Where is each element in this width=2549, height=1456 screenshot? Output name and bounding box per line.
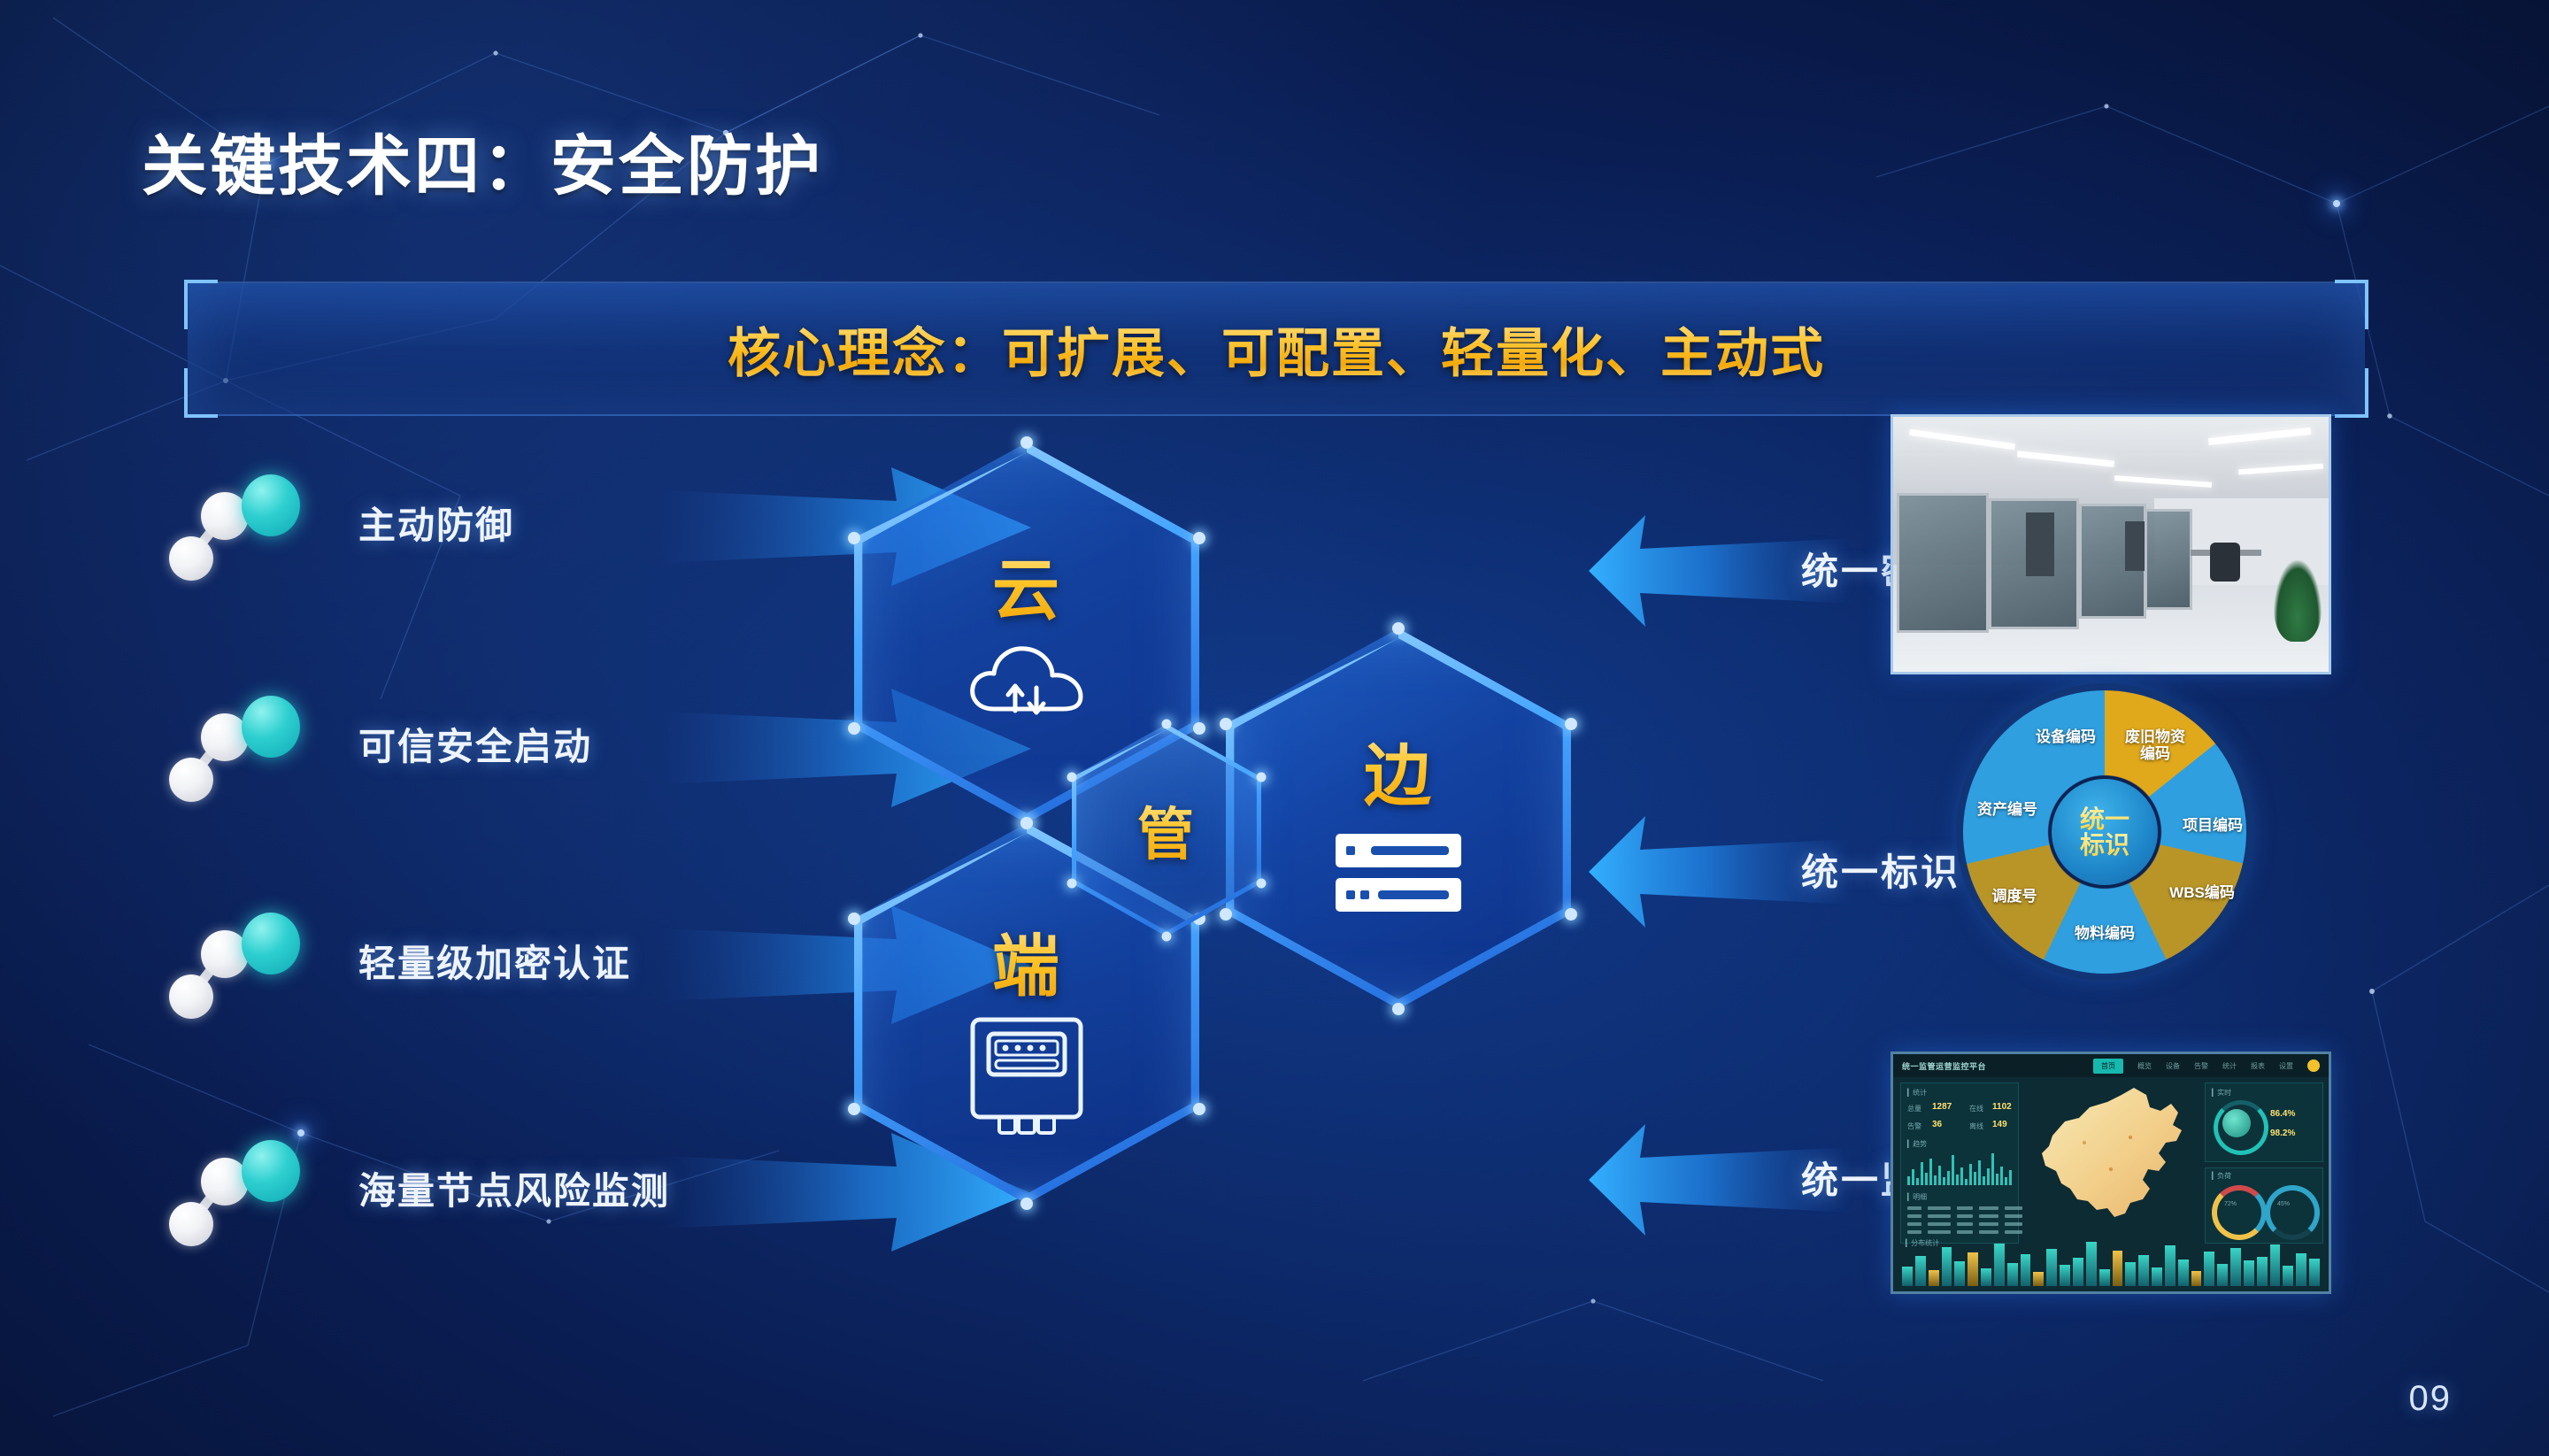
molecule-icon <box>164 467 305 582</box>
segment-label: WBS编码 <box>2165 885 2239 902</box>
bracket-bottom-left-icon <box>184 368 218 418</box>
hexagon-label: 边 <box>1226 721 1571 819</box>
segment-label: 废旧物资编码 <box>2118 729 2192 762</box>
feature-row-node-risk-monitor: 海量节点风险监测 <box>164 1126 854 1259</box>
hexagon-cluster: 云 管 <box>845 443 1589 1195</box>
bracket-top-right-icon <box>2335 280 2368 329</box>
panel-caption: ▎统计 <box>1907 1088 1927 1098</box>
feature-label: 主动防御 <box>358 496 514 550</box>
core-concept-banner: 核心理念：可扩展、可配置、轻量化、主动式 <box>188 281 2365 416</box>
donut-center-line2: 标识 <box>2080 832 2129 858</box>
star-node <box>2333 200 2340 207</box>
dashboard-navbar: 统一监管运营监控平台 首页 概览 设备 告警 统计 报表 设置 <box>1893 1054 2329 1077</box>
monitor-dashboard-screenshot: 统一监管运营监控平台 首页 概览 设备 告警 统计 报表 设置 ▎统计 总量12… <box>1891 1052 2331 1294</box>
dashboard-tab[interactable]: 首页 <box>2093 1059 2123 1074</box>
donut-center: 统一 标识 <box>2052 779 2158 885</box>
dashboard-tab[interactable]: 概览 <box>2137 1061 2152 1071</box>
segment-label: 资产编号 <box>1970 802 2045 819</box>
server-room-photo <box>1891 414 2331 674</box>
segment-label: 设备编码 <box>2029 729 2103 746</box>
molecule-icon <box>164 1133 305 1248</box>
feature-label: 可信安全启动 <box>358 717 592 771</box>
segment-label: 物料编码 <box>2068 926 2142 943</box>
user-avatar[interactable] <box>2307 1059 2320 1072</box>
molecule-icon <box>164 689 305 804</box>
page-title: 关键技术四：安全防护 <box>142 113 823 208</box>
dashboard-tab[interactable]: 报表 <box>2251 1061 2265 1071</box>
identity-wheel-chart: 统一 标识 废旧物资编码 项目编码 WBS编码 物料编码 调度号 资产编号 设备… <box>1929 689 2280 1005</box>
server-icon <box>1226 830 1571 919</box>
page-number: 09 <box>2409 1379 2453 1419</box>
bracket-bottom-right-icon <box>2335 368 2368 418</box>
feature-label: 海量节点风险监测 <box>358 1161 670 1215</box>
molecule-icon <box>164 905 305 1021</box>
slide-canvas: 关键技术四：安全防护 核心理念：可扩展、可配置、轻量化、主动式 主动防御 <box>0 0 2549 1456</box>
dashboard-tab[interactable]: 统计 <box>2222 1061 2237 1071</box>
dashboard-tab[interactable]: 设置 <box>2279 1061 2293 1071</box>
hexagon-label: 云 <box>854 535 1199 633</box>
hexagon-edge[interactable]: 边 <box>1226 628 1571 1009</box>
feature-row-active-defense: 主动防御 <box>164 460 854 593</box>
cloud-sync-icon <box>854 633 1199 739</box>
dashboard-bar-chart <box>1902 1233 2320 1286</box>
hexagon-label: 管 <box>1072 790 1261 871</box>
dashboard-tab[interactable]: 告警 <box>2194 1061 2208 1071</box>
dashboard-tab[interactable]: 设备 <box>2166 1061 2180 1071</box>
bracket-top-left-icon <box>184 280 218 329</box>
electric-meter-icon <box>854 1011 1199 1144</box>
donut-center-line1: 统一 <box>2080 806 2129 832</box>
feature-row-lightweight-auth: 轻量级加密认证 <box>164 898 854 1031</box>
segment-label: 调度号 <box>1977 889 2052 905</box>
feature-row-trusted-boot: 可信安全启动 <box>164 682 854 814</box>
core-concept-text: 核心理念：可扩展、可配置、轻量化、主动式 <box>728 311 1825 388</box>
dashboard-title: 统一监管运营监控平台 <box>1902 1060 1986 1072</box>
hexagon-pipe[interactable]: 管 <box>1072 724 1261 936</box>
feature-label: 轻量级加密认证 <box>358 934 631 988</box>
china-map-icon <box>2026 1084 2203 1235</box>
segment-label: 项目编码 <box>2176 818 2250 835</box>
